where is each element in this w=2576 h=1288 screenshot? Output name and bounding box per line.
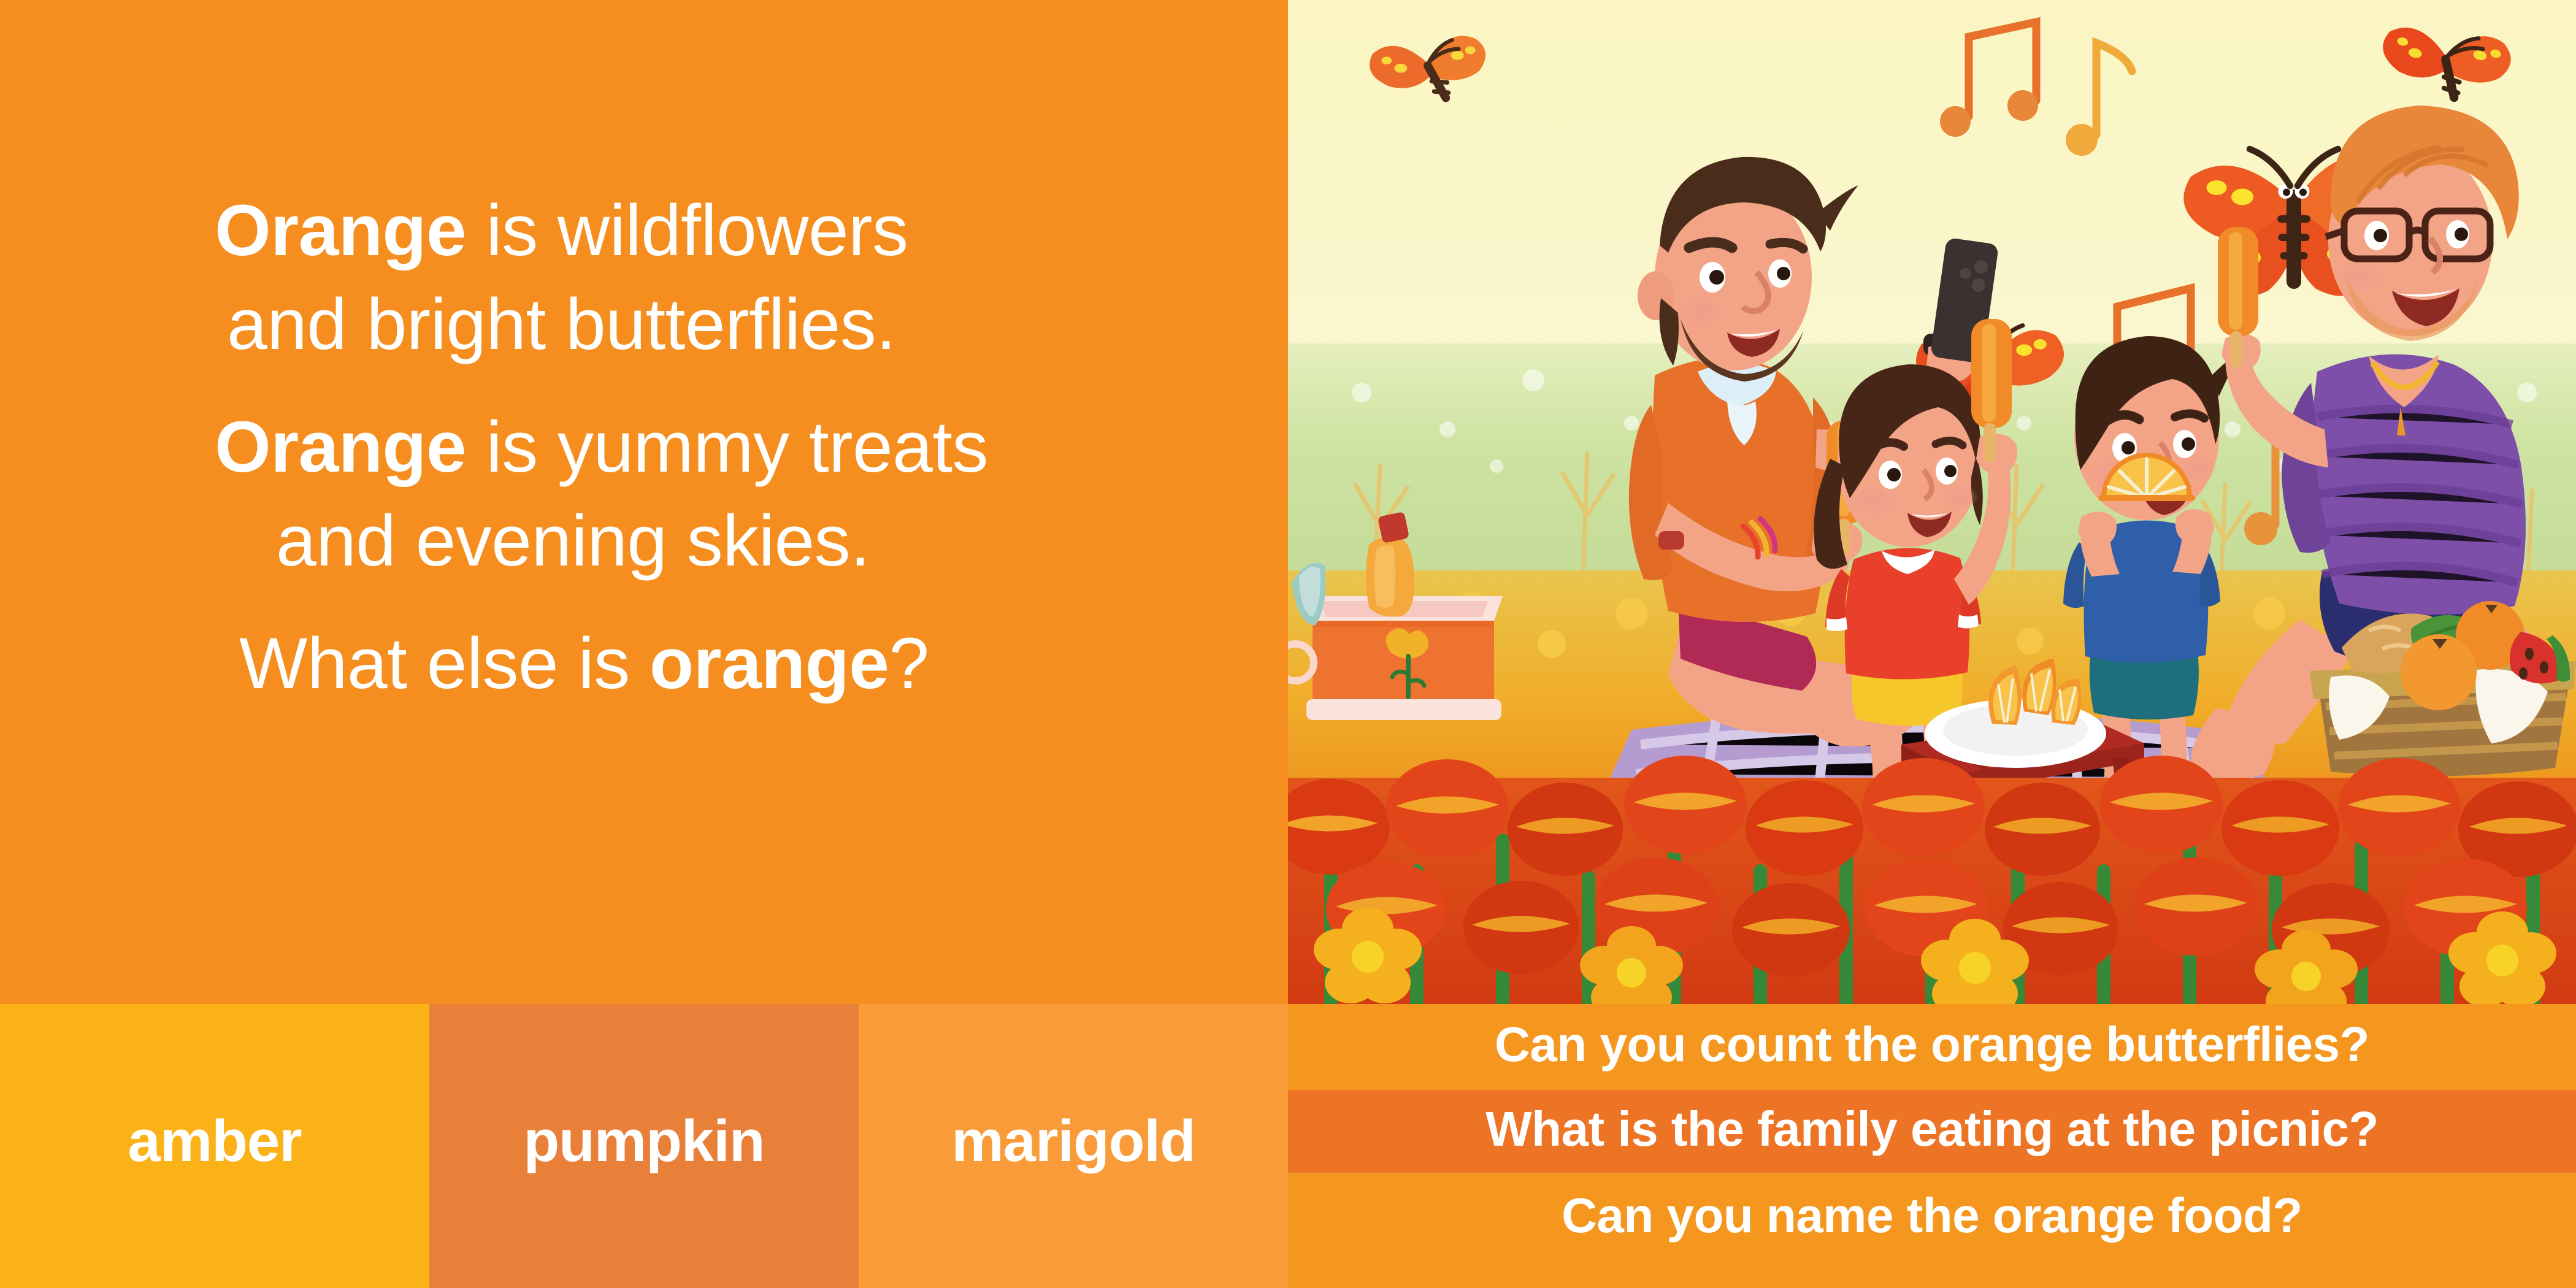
book-page-spread: Orange is wildflowers and bright butterf… <box>0 0 2576 1288</box>
music-note-head-f <box>2066 124 2098 156</box>
father-watch <box>1658 531 1684 550</box>
verse-stanza-3: What else is orange? <box>215 617 1171 711</box>
verse-question-line: What else is orange? <box>215 617 1171 711</box>
question-text-3: Can you name the orange food? <box>1562 1187 2302 1244</box>
swatch-label-pumpkin: pumpkin <box>524 1108 765 1175</box>
question-text-2: What is the family eating at the picnic? <box>1485 1101 2379 1157</box>
bottle-cap <box>1378 512 1409 543</box>
verse-question-mark: ? <box>889 623 929 704</box>
verse-line-4: and evening skies. <box>215 494 1171 588</box>
swatch-label-amber: amber <box>128 1108 301 1175</box>
question-bar-3[interactable]: Can you name the orange food? <box>1288 1173 2576 1288</box>
swatch-marigold[interactable]: marigold <box>859 1004 1288 1288</box>
verse-line-3: Orange is yummy treats <box>215 401 1171 494</box>
father-eyebrow-left <box>1689 242 1732 248</box>
verse-panel: Orange is wildflowers and bright butterf… <box>0 0 1288 1004</box>
swatch-label-marigold: marigold <box>951 1108 1195 1175</box>
verse-text: Orange is wildflowers and bright butterf… <box>215 184 1171 711</box>
music-note-head-g <box>1940 106 1971 137</box>
question-bar-2[interactable]: What is the family eating at the picnic? <box>1288 1090 2576 1173</box>
swatch-pumpkin[interactable]: pumpkin <box>429 1004 859 1288</box>
verse-keyword-orange-1: Orange <box>215 190 466 271</box>
music-note-head-c <box>2244 512 2277 545</box>
verse-line-2: and bright butterflies. <box>215 278 1171 372</box>
music-note-head-h <box>2007 90 2038 121</box>
question-bars: Can you count the orange butterflies? Wh… <box>1288 1004 2576 1288</box>
cooler-base <box>1306 699 1501 720</box>
verse-keyword-orange-2: Orange <box>215 407 466 488</box>
question-bar-1[interactable]: Can you count the orange butterflies? <box>1288 1004 2576 1090</box>
swatch-amber[interactable]: amber <box>0 1004 429 1288</box>
verse-stanza-2: Orange is yummy treats and evening skies… <box>215 401 1171 589</box>
question-text-1: Can you count the orange butterflies? <box>1495 1016 2369 1073</box>
picnic-illustration <box>1288 0 2576 1004</box>
girl-hand <box>1976 434 2017 475</box>
verse-line-1: Orange is wildflowers <box>215 184 1171 278</box>
verse-question-prefix: What else is <box>239 623 650 704</box>
color-swatch-bar: amber pumpkin marigold <box>0 1004 1288 1288</box>
verse-keyword-orange-3: orange <box>650 623 889 704</box>
verse-line-3-rest: is yummy treats <box>466 407 988 488</box>
verse-line-1-rest: is wildflowers <box>466 190 908 271</box>
illustration-canvas <box>1288 0 2576 1004</box>
verse-stanza-1: Orange is wildflowers and bright butterf… <box>215 184 1171 372</box>
